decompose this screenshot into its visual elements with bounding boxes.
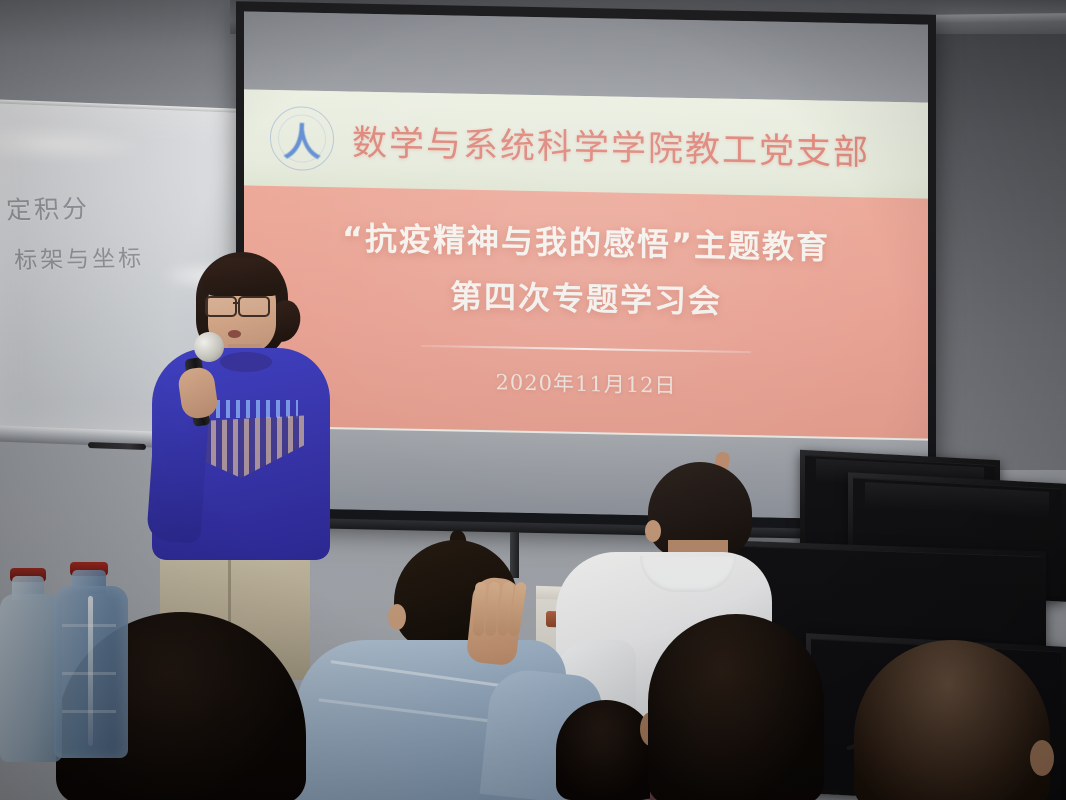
screen-top-gray-band (244, 11, 928, 102)
water-jug (0, 594, 62, 762)
rail-leg (510, 532, 519, 578)
lens-left (205, 296, 237, 317)
hair-fringe (203, 258, 283, 296)
slide-header-title: 数学与系统科学学院教工党支部 (352, 114, 870, 175)
presentation-slide: ⼈ 数学与系统科学学院教工党支部 “抗疫精神与我的感悟”主题教育 第四次专题学习… (244, 89, 928, 440)
mouth (228, 330, 241, 338)
emblem-glyph: ⼈ (266, 102, 338, 175)
slide-main-title-line-1: “抗疫精神与我的感悟”主题教育 (244, 185, 928, 270)
slide-body: “抗疫精神与我的感悟”主题教育 第四次专题学习会 2020年11月12日 (244, 185, 928, 440)
glasses-bridge (233, 302, 240, 304)
ear (1030, 740, 1054, 776)
projection-screen: ⼈ 数学与系统科学学院教工党支部 “抗疫精神与我的感悟”主题教育 第四次专题学习… (244, 11, 928, 520)
lens-right (238, 296, 270, 317)
audience-member-back-row-head (556, 700, 656, 800)
ear (645, 520, 661, 542)
wall-shadow-right (930, 0, 1066, 470)
slide-header-band: ⼈ 数学与系统科学学院教工党支部 (244, 89, 928, 198)
whiteboard-sheen (0, 122, 140, 165)
slide-divider-rule (421, 345, 751, 353)
whiteboard-handwriting-line-1: 定积分 (5, 189, 91, 226)
slide-date: 2020年11月12日 (244, 361, 928, 404)
eyeglasses-icon (205, 296, 275, 313)
audience-member-front-center-head (648, 614, 824, 800)
classroom-photo-scene: 定积分 标架与坐标 ⼈ 数学与系统科学学院教工党支部 “抗疫精神与我的感悟”主题… (0, 0, 1066, 800)
jug-highlight (88, 596, 93, 746)
whiteboard-handwriting-line-2: 标架与坐标 (13, 239, 145, 275)
university-emblem-icon: ⼈ (266, 102, 338, 175)
sweater-collar (220, 352, 272, 372)
ear (388, 604, 406, 630)
